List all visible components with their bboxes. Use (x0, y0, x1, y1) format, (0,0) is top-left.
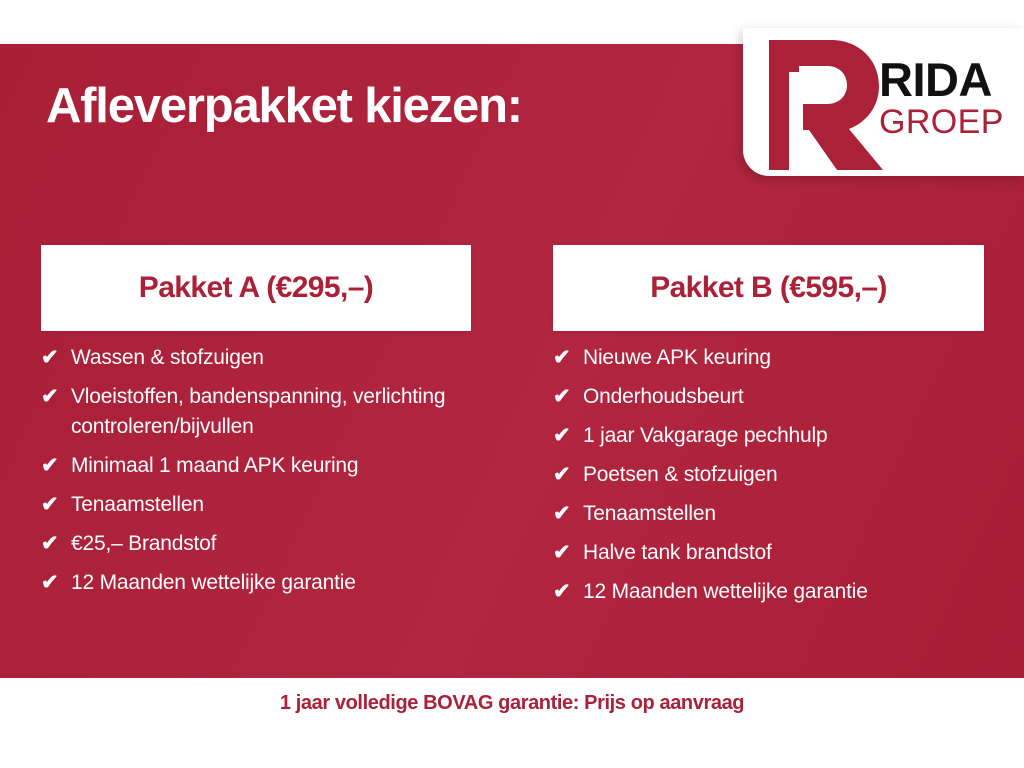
footer-note: 1 jaar volledige BOVAG garantie: Prijs o… (280, 692, 744, 715)
package-a-title: Pakket A (€295,–) (139, 271, 373, 305)
feature-label: Halve tank brandstof (583, 538, 772, 568)
check-icon: ✔ (553, 577, 583, 607)
slide-root: Afleverpakket kiezen: RIDA GROEP Pakket … (0, 0, 1024, 768)
list-item: ✔ Halve tank brandstof (553, 538, 1003, 568)
list-item: ✔ Tenaamstellen (553, 499, 1003, 529)
logo-plate: RIDA GROEP (743, 28, 1024, 176)
list-item: ✔ Vloeistoffen, bandenspanning, verlicht… (41, 382, 511, 442)
logo-brand-text: RIDA (879, 58, 1024, 103)
list-item: ✔ Tenaamstellen (41, 490, 511, 520)
list-item: ✔ Poetsen & stofzuigen (553, 460, 1003, 490)
feature-label: Minimaal 1 maand APK keuring (71, 451, 358, 481)
feature-label: Vloeistoffen, bandenspanning, verlichtin… (71, 382, 511, 442)
check-icon: ✔ (553, 343, 583, 373)
check-icon: ✔ (41, 382, 71, 412)
check-icon: ✔ (553, 460, 583, 490)
rida-r-mark-icon (761, 34, 883, 170)
list-item: ✔ 1 jaar Vakgarage pechhulp (553, 421, 1003, 451)
package-b-feature-list: ✔ Nieuwe APK keuring ✔ Onderhoudsbeurt ✔… (553, 343, 1003, 616)
feature-label: Wassen & stofzuigen (71, 343, 264, 373)
feature-label: Nieuwe APK keuring (583, 343, 771, 373)
feature-label: 1 jaar Vakgarage pechhulp (583, 421, 827, 451)
logo-wordmark: RIDA GROEP (879, 58, 1024, 140)
list-item: ✔ Onderhoudsbeurt (553, 382, 1003, 412)
feature-label: €25,– Brandstof (71, 529, 216, 559)
check-icon: ✔ (41, 343, 71, 373)
page-title: Afleverpakket kiezen: (46, 78, 522, 134)
check-icon: ✔ (553, 499, 583, 529)
package-a-feature-list: ✔ Wassen & stofzuigen ✔ Vloeistoffen, ba… (41, 343, 511, 607)
logo-subbrand-text: GROEP (879, 105, 1024, 141)
check-icon: ✔ (41, 568, 71, 598)
list-item: ✔ 12 Maanden wettelijke garantie (553, 577, 1003, 607)
check-icon: ✔ (553, 382, 583, 412)
list-item: ✔ Minimaal 1 maand APK keuring (41, 451, 511, 481)
feature-label: 12 Maanden wettelijke garantie (71, 568, 356, 598)
check-icon: ✔ (553, 538, 583, 568)
check-icon: ✔ (41, 529, 71, 559)
package-card-b[interactable]: Pakket B (€595,–) (553, 245, 984, 331)
check-icon: ✔ (41, 490, 71, 520)
package-b-title: Pakket B (€595,–) (650, 271, 887, 305)
footer-bar: 1 jaar volledige BOVAG garantie: Prijs o… (0, 678, 1024, 768)
feature-label: Poetsen & stofzuigen (583, 460, 777, 490)
feature-label: Tenaamstellen (583, 499, 716, 529)
check-icon: ✔ (41, 451, 71, 481)
feature-label: 12 Maanden wettelijke garantie (583, 577, 868, 607)
package-card-a[interactable]: Pakket A (€295,–) (41, 245, 471, 331)
list-item: ✔ Wassen & stofzuigen (41, 343, 511, 373)
list-item: ✔ Nieuwe APK keuring (553, 343, 1003, 373)
list-item: ✔ 12 Maanden wettelijke garantie (41, 568, 511, 598)
list-item: ✔ €25,– Brandstof (41, 529, 511, 559)
feature-label: Onderhoudsbeurt (583, 382, 743, 412)
feature-label: Tenaamstellen (71, 490, 204, 520)
check-icon: ✔ (553, 421, 583, 451)
